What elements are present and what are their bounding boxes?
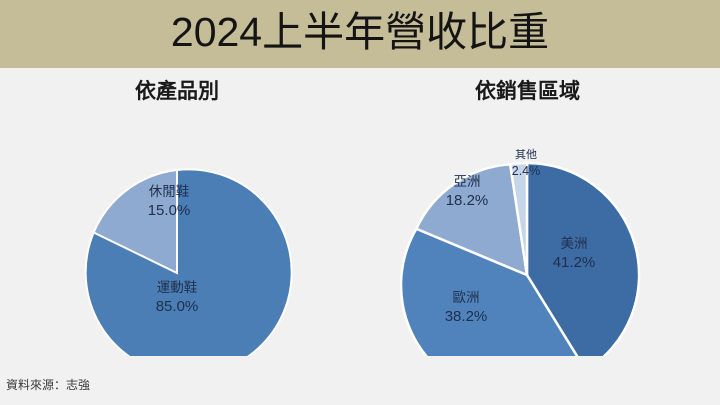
chart-by-region: 依銷售區域 其他 2.4% 亞洲 18.2% <box>400 78 655 358</box>
pie-svg-by-region <box>400 106 655 356</box>
chart-title-by-product: 依產品別 <box>47 78 307 106</box>
pie-chart-by-region: 其他 2.4% 亞洲 18.2% 歐洲 38.2% 美洲 41.2% <box>400 106 655 358</box>
slide-canvas: 2024上半年營收比重 依產品別 休閒鞋 15.0% 運動鞋 85.0% 依銷售… <box>0 0 720 405</box>
pie-chart-by-product: 休閒鞋 15.0% 運動鞋 85.0% <box>47 106 307 358</box>
chart-by-product: 依產品別 休閒鞋 15.0% 運動鞋 85.0% <box>47 78 307 358</box>
pie-svg-by-product <box>47 106 307 356</box>
chart-title-by-region: 依銷售區域 <box>400 78 655 106</box>
pie-slice-sport-shoes[interactable] <box>86 169 292 356</box>
source-note: 資料來源：志強 <box>6 377 90 393</box>
page-title: 2024上半年營收比重 <box>0 6 720 58</box>
